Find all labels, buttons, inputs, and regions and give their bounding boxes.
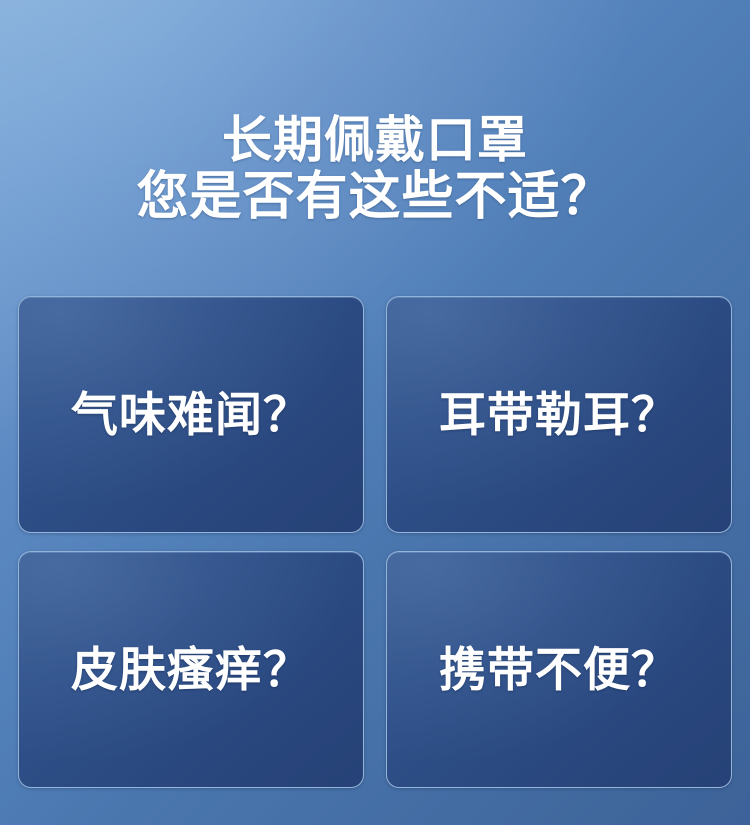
symptom-card-portability[interactable]: 携带不便？ (386, 551, 732, 788)
headline-line-1: 长期佩戴口罩 (0, 112, 750, 169)
symptom-card-odor[interactable]: 气味难闻？ (18, 296, 364, 533)
symptom-card-grid: 气味难闻？ 耳带勒耳？ 皮肤瘙痒？ 携带不便？ (18, 296, 732, 788)
symptom-card-label: 耳带勒耳？ (439, 391, 679, 438)
symptom-card-label: 携带不便？ (439, 646, 679, 693)
page-title: 长期佩戴口罩 您是否有这些不适？ (0, 112, 750, 226)
promo-banner: 长期佩戴口罩 您是否有这些不适？ 气味难闻？ 耳带勒耳？ 皮肤瘙痒？ 携带不便？ (0, 0, 750, 825)
symptom-card-label: 皮肤瘙痒？ (71, 646, 311, 693)
headline-line-2: 您是否有这些不适？ (0, 169, 750, 226)
symptom-card-ear-strap[interactable]: 耳带勒耳？ (386, 296, 732, 533)
symptom-card-label: 气味难闻？ (71, 391, 311, 438)
symptom-card-skin-itch[interactable]: 皮肤瘙痒？ (18, 551, 364, 788)
